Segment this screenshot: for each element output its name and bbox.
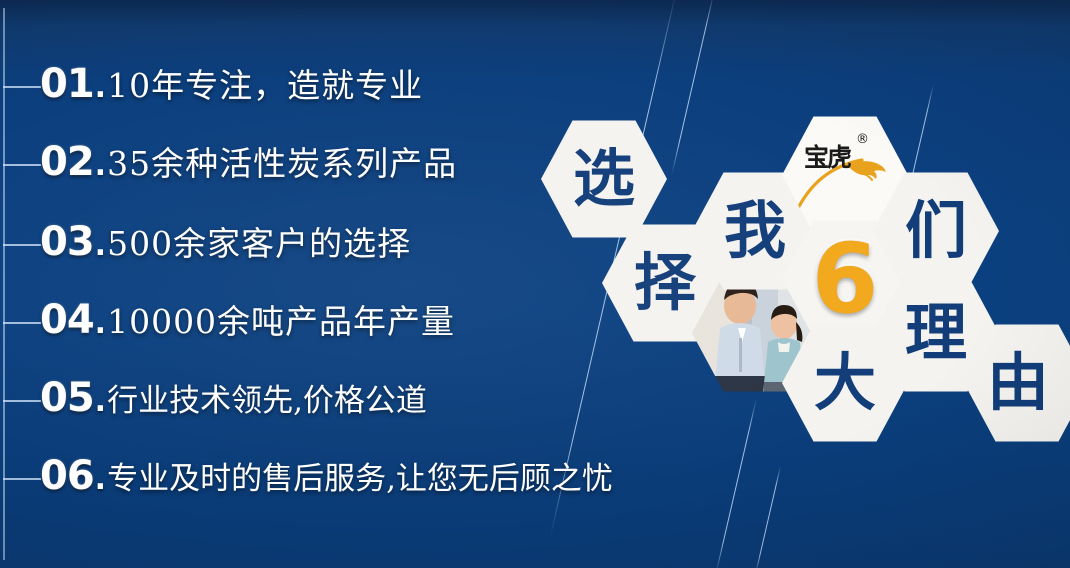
hex-da: 大 (782, 322, 908, 444)
hex-you: 由 (964, 322, 1070, 444)
reason-text: 行业技术领先,价格公道 (107, 386, 427, 417)
hex-six-backdrop (782, 218, 908, 340)
tiger-swoosh-icon (786, 126, 904, 226)
reason-text: 35余种活性炭系列产品 (107, 147, 457, 180)
reason-row-4: 04 . 10000余吨产品年产量 (40, 300, 455, 341)
reason-dot: . (95, 228, 106, 263)
reason-number: 06 (40, 456, 94, 496)
reason-number: 04 (40, 300, 94, 340)
reason-dot: . (95, 70, 106, 105)
reason-number: 01 (40, 64, 94, 104)
hex-glyph: 理 (905, 302, 967, 364)
reason-text: 专业及时的售后服务,让您无后顾之忧 (107, 464, 613, 495)
hex-logo: 宝虎 ® (782, 114, 908, 236)
diagonal-line-4 (948, 228, 976, 345)
reason-dot: . (95, 306, 106, 341)
registered-mark-icon: ® (856, 132, 869, 147)
reason-text: 500余家客户的选择 (107, 227, 411, 260)
hex-six: 6 (782, 218, 908, 340)
reason-number: 05 (40, 378, 94, 418)
hex-li: 理 (873, 272, 999, 394)
promo-banner: 01 . 10年专注，造就专业 02 . 35余种活性炭系列产品 03 . 50… (0, 0, 1070, 568)
reason-dot: . (95, 384, 106, 419)
logo-brand-text: 宝虎 (804, 138, 850, 174)
reason-row-5: 05 . 行业技术领先,价格公道 (40, 378, 427, 419)
reason-row-2: 02 . 35余种活性炭系列产品 (40, 142, 457, 183)
reason-dot: . (95, 148, 106, 183)
hex-men: 们 (873, 170, 999, 292)
diagonal-line-3 (899, 84, 934, 230)
reason-dot: . (95, 462, 106, 497)
hex-glyph: 大 (814, 352, 876, 414)
reason-text: 10年专注，造就专业 (107, 69, 423, 102)
reason-text: 10000余吨产品年产量 (107, 305, 455, 338)
brand-logo: 宝虎 ® (782, 114, 908, 236)
hex-glyph: 们 (905, 200, 967, 262)
reasons-list: 01 . 10年专注，造就专业 02 . 35余种活性炭系列产品 03 . 50… (0, 0, 780, 568)
six-number: 6 (812, 231, 879, 327)
reason-row-6: 06 . 专业及时的售后服务,让您无后顾之忧 (40, 456, 613, 497)
reason-number: 03 (40, 222, 94, 262)
reason-row-1: 01 . 10年专注，造就专业 (40, 64, 423, 105)
hex-glyph: 由 (987, 352, 1049, 414)
reason-row-3: 03 . 500余家客户的选择 (40, 222, 411, 263)
reason-number: 02 (40, 142, 94, 182)
